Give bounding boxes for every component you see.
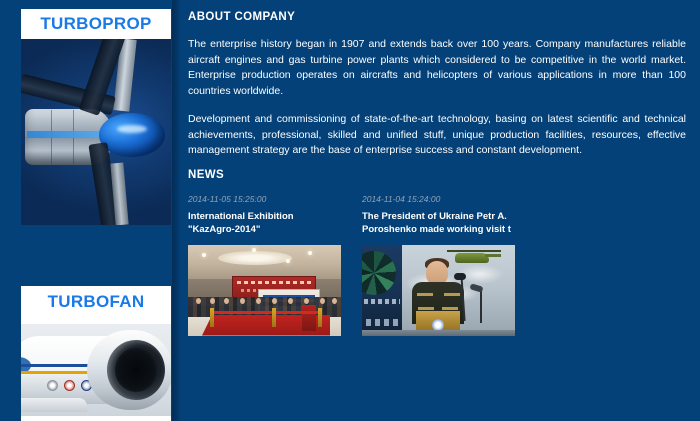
crowd-person [256, 298, 261, 304]
main-content: ABOUT COMPANY The enterprise history beg… [181, 0, 700, 421]
news-list: 2014-11-05 15:25:00 International Exhibi… [188, 194, 686, 336]
crowd-person [288, 298, 293, 304]
promo-title-turbofan: TURBOFAN [21, 286, 171, 318]
exhibition-lamp [202, 253, 206, 257]
backdrop-text-line [364, 299, 400, 304]
exhibition-ceiling-light-oval [218, 251, 292, 265]
crowd-person [224, 298, 229, 304]
crowd-person [240, 298, 245, 304]
speaker-head [426, 261, 448, 285]
news-thumbnail-president-visit[interactable] [362, 245, 515, 336]
turbofan-badge-2 [64, 380, 75, 391]
ribbon-post [210, 308, 214, 327]
page-root: TURBOPROP TURBOFAN [0, 0, 700, 421]
crowd-person [196, 298, 201, 304]
helicopter-body [455, 253, 489, 263]
about-company-heading: ABOUT COMPANY [188, 11, 686, 23]
news-item[interactable]: 2014-11-04 15:24:00 The President of Ukr… [362, 194, 515, 336]
helicopter-rotor [447, 250, 501, 252]
microphone [454, 273, 466, 280]
about-paragraph-2: Development and commissioning of state-o… [188, 112, 686, 159]
news-thumbnail-exhibition[interactable] [188, 245, 341, 336]
news-heading: NEWS [188, 169, 686, 181]
turboprop-spinner-cone [99, 113, 165, 157]
about-paragraph-1: The enterprise history began in 1907 and… [188, 37, 686, 99]
crowd-person [272, 298, 277, 304]
exhibition-lamp [252, 248, 256, 252]
sidebar-content-divider [172, 0, 181, 421]
news-date: 2014-11-05 15:25:00 [188, 194, 341, 204]
exhibition-lamp [308, 251, 312, 255]
news-item[interactable]: 2014-11-05 15:25:00 International Exhibi… [188, 194, 341, 336]
turbofan-photo [21, 324, 171, 416]
promo-title-turboprop: TURBOPROP [21, 9, 171, 39]
news-headline[interactable]: The President of Ukraine Petr A. Poroshe… [362, 210, 515, 237]
exhibition-ribbon [212, 311, 320, 314]
crowd-person [332, 298, 337, 304]
helicopter-graphic-icon [447, 247, 501, 265]
crowd-person [320, 298, 325, 304]
crowd-person [304, 298, 309, 304]
jacket-patch [442, 307, 458, 310]
jacket-patch [417, 293, 433, 296]
jacket-patch [444, 293, 460, 296]
banner-text-line-1 [237, 281, 311, 284]
turbofan-badge-1 [47, 380, 58, 391]
news-headline[interactable]: International Exhibition "KazAgro-2014" [188, 210, 341, 237]
turboprop-photo [21, 39, 171, 225]
turbofan-wing [21, 398, 87, 412]
ribbon-post [272, 308, 276, 327]
news-date: 2014-11-04 15:24:00 [362, 194, 515, 204]
second-microphone-stand [480, 289, 482, 323]
promo-card-turbofan[interactable]: TURBOFAN [21, 286, 171, 421]
exhibition-red-stand [302, 305, 316, 331]
ribbon-post [318, 308, 322, 327]
helicopter-tail [485, 254, 501, 257]
exhibition-lamp [286, 259, 290, 263]
backdrop-logo-row [366, 319, 400, 326]
turboprop-livery-stripe [27, 131, 101, 138]
turbofan-engine-intake [107, 340, 165, 400]
stage-floor [362, 330, 515, 336]
sidebar: TURBOPROP TURBOFAN [0, 0, 172, 421]
promo-card-turboprop[interactable]: TURBOPROP [21, 9, 171, 225]
crowd-person [210, 298, 215, 304]
jacket-patch [418, 307, 434, 310]
